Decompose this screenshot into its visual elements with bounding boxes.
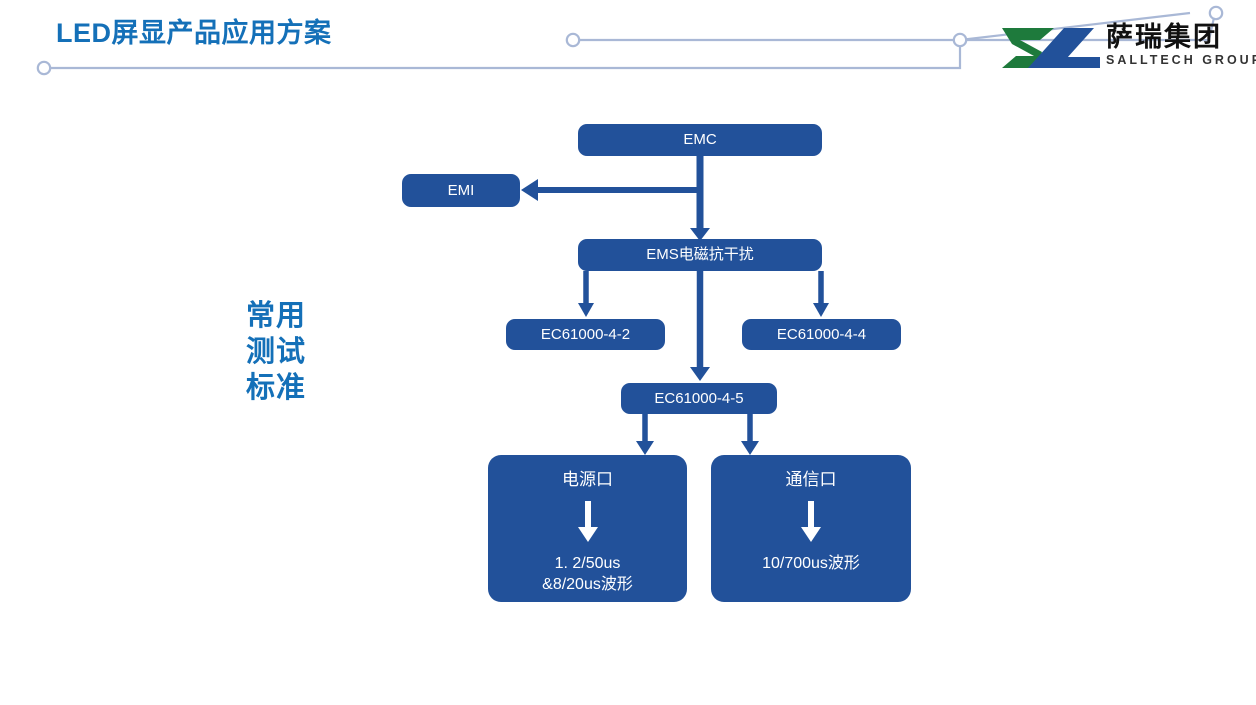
down-arrow-icon xyxy=(575,499,601,545)
node-emc[interactable]: EMC xyxy=(578,124,822,156)
node-ems[interactable]: EMS电磁抗干扰 xyxy=(578,239,822,271)
node-comm-port[interactable]: 通信口 10/700us波形 xyxy=(711,455,911,602)
slide-canvas: LED屏显产品应用方案 萨瑞集团 SALLTECH GROUP 常用 测试 标准 xyxy=(0,0,1256,705)
down-arrow-icon xyxy=(798,499,824,545)
node-iec-4-2-label: EC61000-4-2 xyxy=(541,326,630,344)
node-iec-61000-4-5[interactable]: EC61000-4-5 xyxy=(621,383,777,414)
node-emi-label: EMI xyxy=(448,182,475,200)
node-emc-label: EMC xyxy=(683,131,716,149)
node-ems-label: EMS电磁抗干扰 xyxy=(646,246,754,264)
node-comm-port-detail: 10/700us波形 xyxy=(762,553,860,574)
node-power-port-title: 电源口 xyxy=(562,469,613,491)
emc-flowchart: EMC EMI EMS电磁抗干扰 EC61000-4-2 EC61000-4-4… xyxy=(0,0,1256,705)
node-power-port-detail: 1. 2/50us &8/20us波形 xyxy=(542,553,633,595)
node-emi[interactable]: EMI xyxy=(402,174,520,207)
node-comm-port-title: 通信口 xyxy=(786,469,837,491)
node-iec-4-5-label: EC61000-4-5 xyxy=(654,390,743,408)
node-power-port[interactable]: 电源口 1. 2/50us &8/20us波形 xyxy=(488,455,687,602)
node-iec-61000-4-4[interactable]: EC61000-4-4 xyxy=(742,319,901,350)
node-iec-4-4-label: EC61000-4-4 xyxy=(777,326,866,344)
node-iec-61000-4-2[interactable]: EC61000-4-2 xyxy=(506,319,665,350)
